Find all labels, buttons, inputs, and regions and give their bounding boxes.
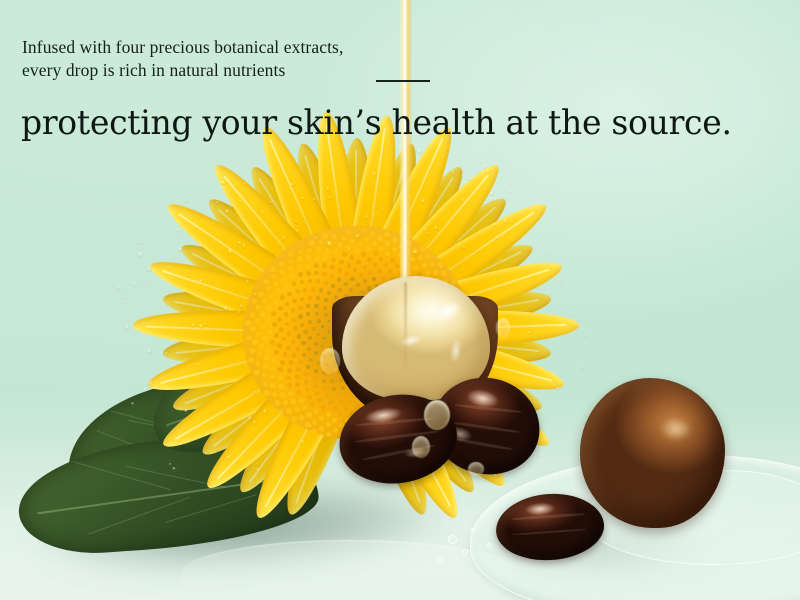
water-droplet bbox=[163, 332, 166, 334]
subheadline-line-1: Infused with four precious botanical ext… bbox=[22, 36, 343, 59]
water-droplet bbox=[165, 240, 167, 242]
pecan-gloss bbox=[458, 386, 510, 420]
decorative-rule bbox=[376, 80, 430, 82]
water-droplet bbox=[536, 286, 539, 289]
water-droplet bbox=[555, 344, 556, 345]
water-droplet bbox=[167, 380, 169, 382]
water-droplet bbox=[185, 198, 188, 202]
water-droplet bbox=[446, 196, 448, 198]
water-droplet bbox=[347, 162, 349, 163]
water-droplet bbox=[489, 197, 493, 201]
water-droplet bbox=[253, 420, 257, 424]
water-droplet bbox=[234, 185, 237, 188]
water-droplet bbox=[463, 246, 466, 249]
water-droplet bbox=[434, 226, 439, 230]
water-droplet bbox=[382, 208, 385, 211]
water-droplet bbox=[228, 249, 233, 254]
water-droplet bbox=[256, 393, 258, 395]
water-droplet bbox=[528, 306, 530, 308]
water-droplet bbox=[451, 170, 455, 174]
water-droplet bbox=[254, 293, 257, 297]
oil-drip bbox=[468, 462, 484, 476]
water-droplet bbox=[490, 168, 493, 171]
water-droplet bbox=[169, 463, 172, 466]
oil-stream-highlight bbox=[404, 0, 406, 300]
water-droplet bbox=[213, 222, 216, 225]
water-droplet bbox=[271, 201, 274, 204]
water-droplet bbox=[461, 175, 463, 177]
water-droplet bbox=[335, 163, 338, 166]
water-droplet bbox=[440, 267, 443, 269]
water-droplet bbox=[314, 236, 318, 240]
water-droplet bbox=[276, 255, 279, 258]
water-droplet bbox=[348, 248, 351, 251]
water-droplet bbox=[225, 331, 228, 334]
water-droplet bbox=[238, 311, 241, 314]
water-droplet bbox=[507, 250, 509, 252]
oil-drip bbox=[320, 348, 340, 374]
water-droplet bbox=[571, 422, 573, 424]
water-droplet bbox=[123, 296, 126, 299]
water-droplet bbox=[130, 359, 134, 362]
water-droplet bbox=[483, 164, 487, 169]
water-droplet bbox=[504, 219, 509, 223]
water-droplet bbox=[138, 252, 143, 257]
water-droplet bbox=[199, 279, 203, 284]
water-droplet bbox=[196, 208, 198, 210]
water-droplet bbox=[417, 148, 422, 153]
water-droplet bbox=[147, 349, 152, 353]
water-droplet bbox=[216, 201, 219, 204]
water-droplet bbox=[246, 280, 250, 284]
water-droplet bbox=[460, 248, 462, 250]
water-droplet bbox=[413, 250, 418, 254]
water-droplet bbox=[149, 381, 153, 386]
water-droplet bbox=[295, 220, 298, 224]
water-droplet bbox=[133, 282, 138, 287]
water-droplet bbox=[158, 339, 161, 342]
water-droplet bbox=[345, 152, 348, 155]
water-droplet bbox=[559, 283, 561, 285]
water-droplet bbox=[388, 174, 390, 175]
water-droplet bbox=[172, 467, 177, 471]
water-droplet bbox=[178, 247, 182, 251]
water-droplet bbox=[224, 306, 228, 311]
headline: protecting your skin’s health at the sou… bbox=[21, 104, 732, 142]
oil-drip bbox=[424, 400, 450, 430]
water-droplet bbox=[327, 241, 332, 246]
water-droplet bbox=[296, 229, 300, 233]
water-droplet bbox=[146, 284, 148, 286]
water-droplet bbox=[282, 236, 286, 240]
water-droplet bbox=[538, 401, 541, 404]
water-droplet bbox=[143, 387, 148, 392]
water-droplet bbox=[480, 201, 485, 205]
water-droplet bbox=[434, 205, 437, 208]
water-droplet bbox=[125, 325, 129, 329]
water-droplet bbox=[495, 236, 498, 239]
water-droplet bbox=[461, 198, 464, 202]
water-droplet bbox=[505, 260, 508, 263]
water-droplet bbox=[128, 388, 130, 390]
water-droplet bbox=[510, 182, 514, 186]
water-droplet bbox=[581, 366, 584, 369]
water-droplet bbox=[169, 291, 171, 293]
water-droplet bbox=[187, 271, 190, 274]
water-droplet bbox=[584, 334, 588, 338]
water-droplet bbox=[313, 198, 316, 201]
water-droplet bbox=[117, 286, 121, 289]
water-droplet bbox=[356, 234, 360, 238]
water-droplet bbox=[534, 353, 536, 355]
water-droplet bbox=[261, 210, 265, 215]
water-droplet bbox=[176, 228, 181, 232]
water-droplet bbox=[471, 249, 474, 252]
water-droplet bbox=[165, 352, 168, 355]
water-droplet bbox=[525, 208, 527, 210]
water-droplet bbox=[328, 197, 331, 199]
water-droplet bbox=[468, 177, 472, 181]
advertisement-canvas: Infused with four precious botanical ext… bbox=[0, 0, 800, 600]
water-droplet bbox=[150, 315, 152, 317]
subheadline-line-2: every drop is rich in natural nutrients bbox=[22, 59, 343, 82]
oil-drip bbox=[412, 436, 430, 458]
macadamia-whole bbox=[580, 378, 725, 528]
water-droplet bbox=[548, 251, 551, 255]
water-droplet bbox=[185, 428, 187, 430]
water-droplet bbox=[548, 291, 551, 295]
water-droplet bbox=[242, 243, 247, 248]
water-droplet bbox=[138, 241, 142, 244]
water-droplet bbox=[225, 209, 230, 214]
water-droplet bbox=[205, 323, 208, 326]
water-droplet bbox=[365, 215, 369, 219]
water-droplet bbox=[427, 232, 429, 234]
water-droplet bbox=[243, 182, 247, 185]
water-droplet bbox=[309, 144, 311, 145]
water-droplet bbox=[251, 160, 254, 163]
water-droplet bbox=[421, 199, 426, 203]
water-droplet bbox=[490, 192, 494, 196]
water-droplet bbox=[537, 454, 539, 456]
water-droplet bbox=[226, 320, 228, 323]
water-droplet bbox=[526, 464, 529, 467]
water-droplet bbox=[424, 228, 428, 231]
water-droplet bbox=[282, 227, 284, 229]
water-droplet bbox=[147, 267, 151, 271]
water-droplet bbox=[221, 181, 225, 185]
water-droplet bbox=[177, 437, 181, 442]
water-droplet bbox=[263, 409, 267, 414]
water-droplet bbox=[196, 363, 200, 366]
water-droplet bbox=[290, 183, 294, 186]
water-droplet bbox=[131, 402, 135, 406]
water-droplet bbox=[191, 323, 195, 327]
water-droplet bbox=[556, 387, 559, 390]
water-droplet bbox=[240, 304, 244, 307]
water-droplet bbox=[290, 398, 292, 400]
water-droplet bbox=[511, 221, 514, 223]
water-droplet bbox=[309, 425, 312, 428]
water-droplet bbox=[326, 187, 330, 192]
pecan-gloss bbox=[358, 403, 415, 432]
water-droplet bbox=[243, 214, 246, 217]
subheadline-block: Infused with four precious botanical ext… bbox=[22, 36, 343, 82]
water-droplet bbox=[355, 247, 357, 249]
water-droplet bbox=[301, 440, 305, 443]
water-droplet bbox=[256, 468, 261, 472]
water-droplet bbox=[528, 331, 531, 334]
water-droplet bbox=[479, 161, 482, 164]
water-droplet bbox=[372, 172, 376, 176]
water-droplet bbox=[572, 395, 574, 397]
water-droplet bbox=[498, 259, 501, 262]
water-droplet bbox=[337, 220, 339, 222]
water-droplet bbox=[227, 456, 231, 460]
oil-drip bbox=[496, 318, 510, 338]
water-droplet bbox=[168, 266, 171, 269]
pecan-ridge bbox=[511, 528, 587, 536]
water-droplet bbox=[480, 260, 482, 262]
macadamia-crease bbox=[404, 282, 407, 374]
water-droplet bbox=[248, 416, 253, 420]
water-droplet bbox=[493, 223, 496, 226]
water-droplet bbox=[184, 409, 189, 414]
water-droplet bbox=[562, 277, 564, 280]
water-droplet bbox=[199, 324, 202, 328]
water-droplet bbox=[363, 224, 365, 226]
water-droplet bbox=[509, 191, 511, 193]
water-droplet bbox=[253, 280, 255, 282]
water-droplet bbox=[301, 197, 305, 201]
